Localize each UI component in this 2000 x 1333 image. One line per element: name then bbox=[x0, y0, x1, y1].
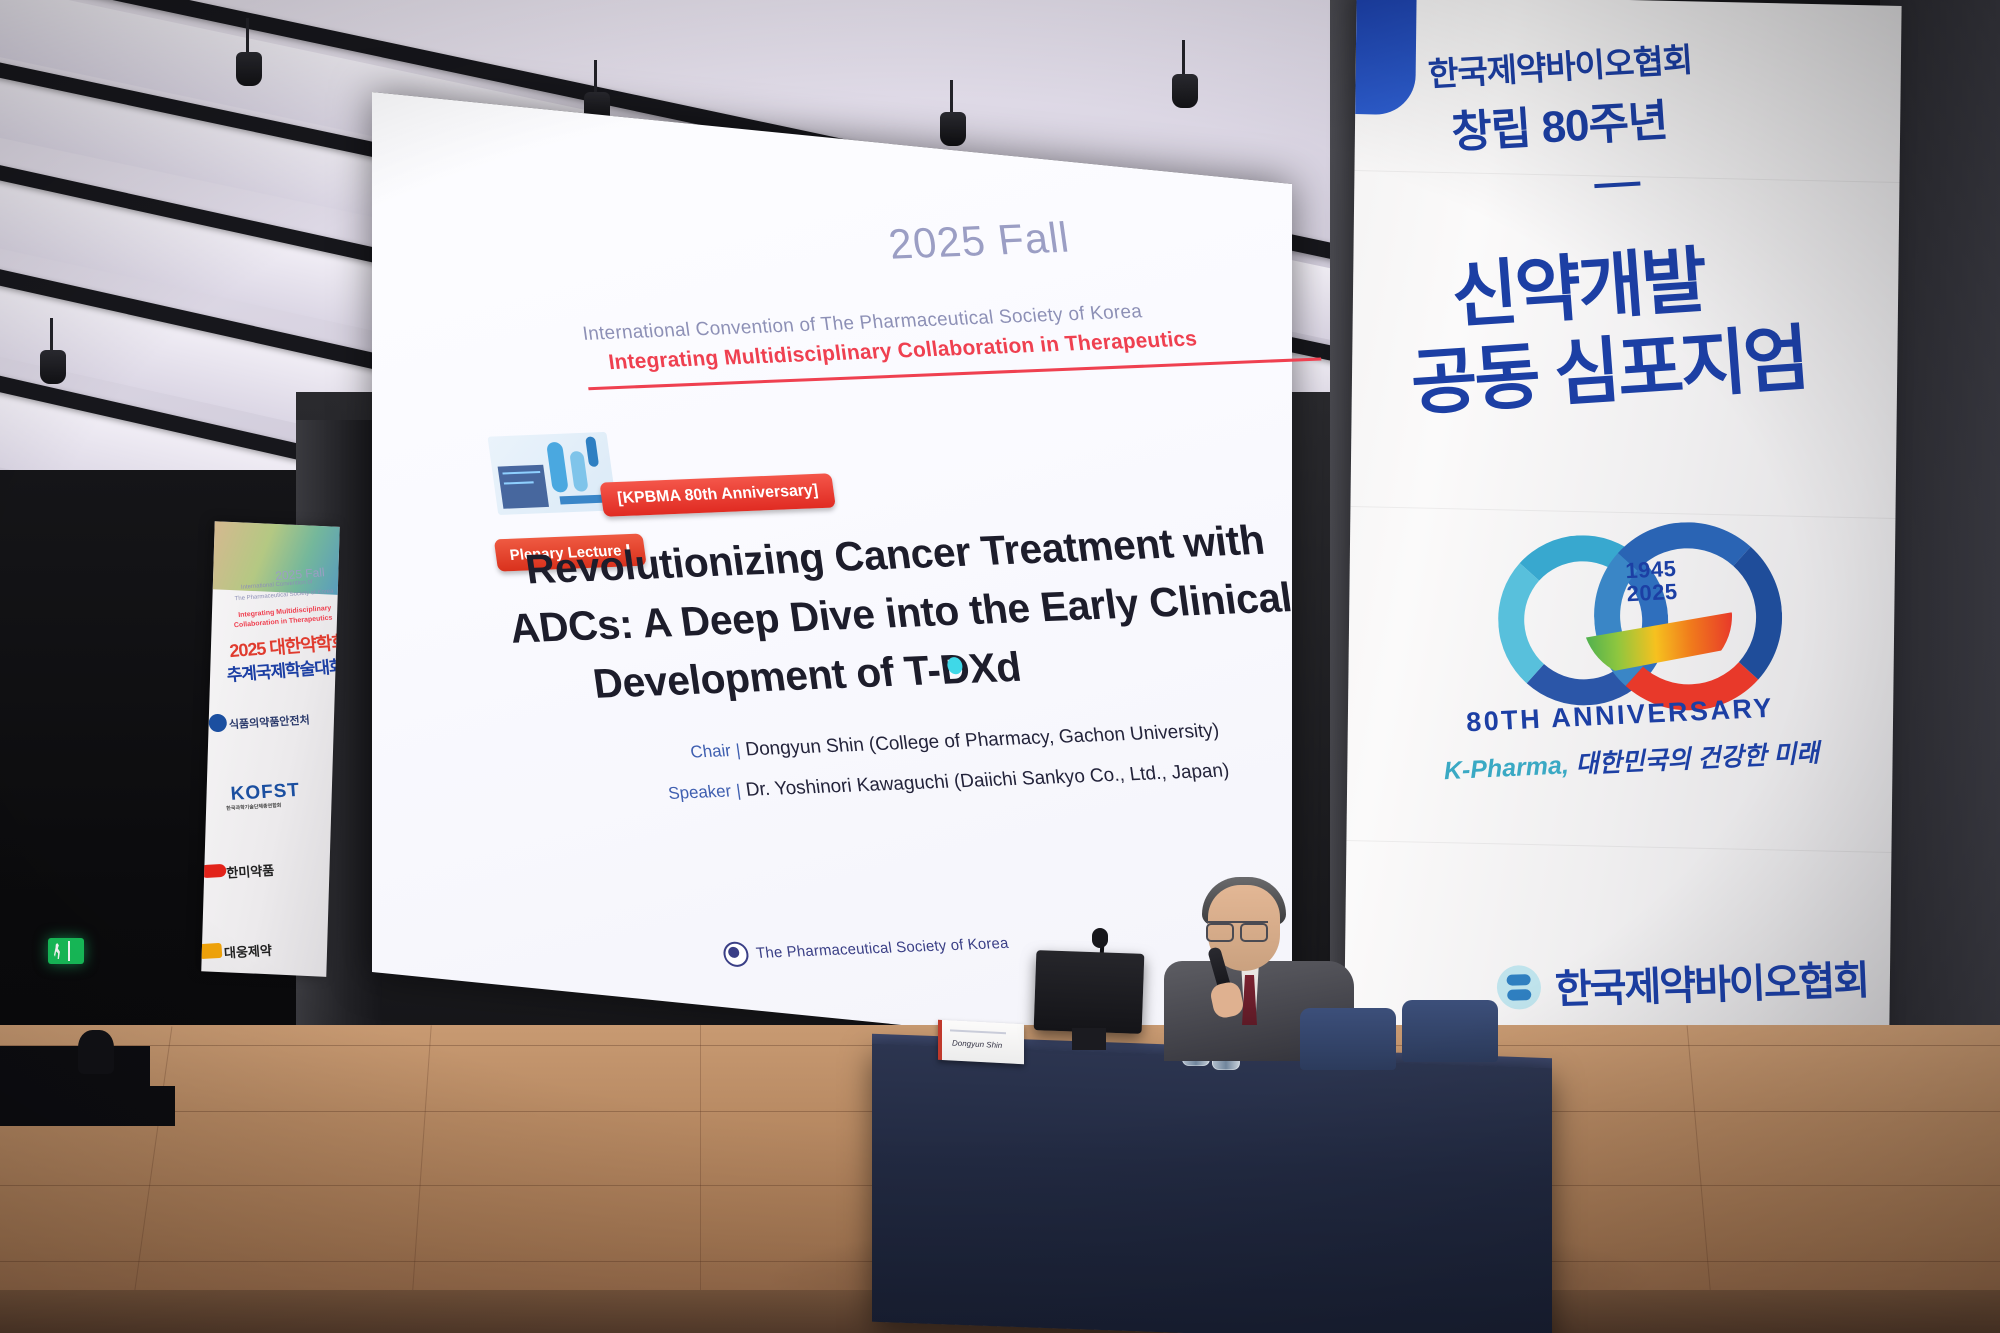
speaker-value: Dr. Yoshinori Kawaguchi (Daiichi Sankyo … bbox=[744, 760, 1230, 801]
table-microphone-icon bbox=[1092, 928, 1108, 948]
light-rig-arm bbox=[50, 318, 53, 352]
sponsor-logo-daewoong: 대웅제약 bbox=[223, 940, 272, 962]
light-rig-arm bbox=[246, 18, 249, 54]
anniversary-80-logo: 1945 2025 bbox=[1485, 514, 1744, 696]
ceiling-spotlight bbox=[236, 52, 262, 86]
chair-value: Dongyun Shin (College of Pharmacy, Gacho… bbox=[744, 720, 1220, 760]
logo-year-to: 2025 bbox=[1626, 580, 1678, 606]
audience-silhouette bbox=[78, 1030, 114, 1074]
mfds-mark-icon bbox=[208, 713, 227, 732]
sponsor-logo-hanmi: 한미약품 bbox=[226, 860, 275, 882]
chair-label: Chair bbox=[689, 741, 732, 762]
ceiling-spotlight bbox=[40, 350, 66, 384]
ceiling-spotlight bbox=[1172, 74, 1198, 108]
slide-decoration-image bbox=[487, 432, 617, 515]
banner-kpbma-logo: 한국제약바이오협회 bbox=[1496, 948, 1869, 1017]
speaker-label: Speaker bbox=[667, 781, 732, 803]
eyeglasses-icon bbox=[1206, 921, 1268, 939]
ceiling-spotlight bbox=[940, 112, 966, 146]
banner-anniversary-line: 창립 80주년 bbox=[1449, 84, 1669, 160]
confidence-monitor bbox=[1034, 950, 1145, 1034]
slide-footer-org: The Pharmaceutical Society of Korea bbox=[755, 935, 1010, 962]
psk-emblem-icon bbox=[722, 941, 750, 967]
exit-sign-icon bbox=[48, 938, 84, 964]
banner-anniversary-caption: 80TH ANNIVERSARY bbox=[1465, 693, 1774, 739]
tagline-kr: 대한민국의 건강한 미래 bbox=[1575, 739, 1820, 779]
speaker-separator: | bbox=[735, 781, 742, 800]
kpbma-logo-text: 한국제약바이오협회 bbox=[1554, 948, 1869, 1015]
light-rig-arm bbox=[950, 80, 953, 114]
conference-hall-photo: 2025 Fall International Convention of Th… bbox=[0, 0, 2000, 1333]
daewoong-mark-icon bbox=[201, 943, 222, 959]
slide-chair-line: Chair | Dongyun Shin (College of Pharmac… bbox=[689, 720, 1221, 764]
audience-desk bbox=[0, 1086, 175, 1126]
stage-chair bbox=[1300, 1008, 1396, 1070]
chair-separator: | bbox=[735, 741, 742, 760]
stage-chair bbox=[1402, 1000, 1498, 1062]
slide-title-line-3: Development of T-DXd bbox=[590, 643, 1024, 708]
left-event-banner: 2025 Fall International Convention of Th… bbox=[201, 521, 340, 977]
hanmi-mark-icon bbox=[201, 864, 226, 879]
badge-kpbma-anniversary: [KPBMA 80th Anniversary] bbox=[599, 473, 836, 517]
banner-tagline: K-Pharma, 대한민국의 건강한 미래 bbox=[1443, 733, 1820, 787]
kpbma-mark-icon bbox=[1496, 965, 1542, 1010]
monitor-stand bbox=[1072, 1028, 1106, 1050]
head-table bbox=[872, 1044, 1552, 1333]
slide-speaker-line: Speaker | Dr. Yoshinori Kawaguchi (Daiic… bbox=[667, 760, 1231, 805]
right-symposium-banner: 한국제약바이오협회 창립 80주년 신약개발 공동 심포지엄 1945 2025… bbox=[1343, 0, 1901, 1106]
sponsor-logo-mfds: 식품의약품안전처 bbox=[228, 711, 310, 732]
banner-divider bbox=[1594, 181, 1640, 188]
audience-desk bbox=[0, 1046, 150, 1086]
tagline-en: K-Pharma, bbox=[1443, 751, 1569, 785]
slide-year: 2025 Fall bbox=[886, 213, 1073, 268]
light-rig-arm bbox=[1182, 40, 1185, 76]
logo-years: 1945 2025 bbox=[1625, 557, 1679, 606]
light-rig-arm bbox=[594, 60, 597, 94]
nameplate: Dongyun Shin bbox=[938, 1020, 1024, 1065]
slide-footer-logo: The Pharmaceutical Society of Korea bbox=[722, 931, 1010, 968]
